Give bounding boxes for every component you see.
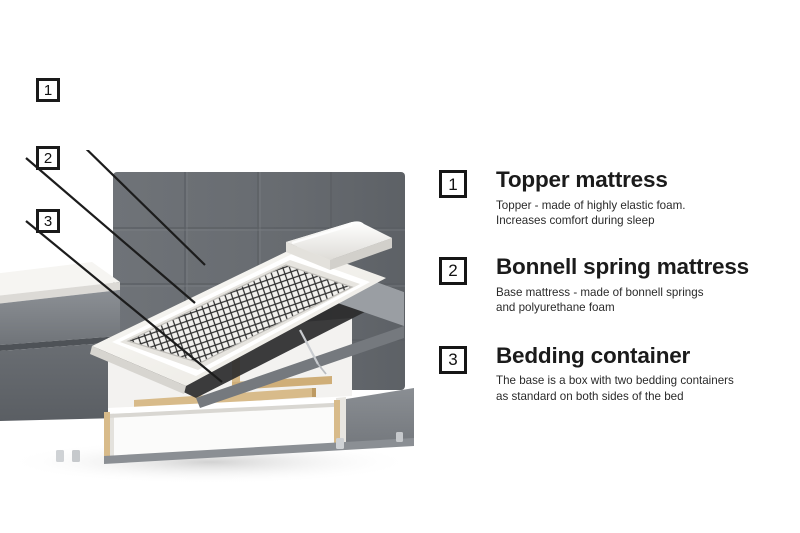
legend-number-2: 2: [439, 257, 467, 285]
legend-text-block: Topper mattress Topper - made of highly …: [496, 168, 789, 229]
legend-description-bedding-container: The base is a box with two bedding conta…: [496, 373, 789, 404]
legend-item-topper-mattress: 1 Topper mattress Topper - made of highl…: [439, 168, 789, 229]
callout-number-2: 2: [36, 146, 60, 170]
legend-number-1: 1: [439, 170, 467, 198]
callout-number-3: 3: [36, 209, 60, 233]
legend-list: 1 Topper mattress Topper - made of highl…: [439, 168, 789, 433]
infographic-canvas: 1 2 3 1 Topper mattress Topper - made of…: [0, 0, 800, 533]
legend-description-bonnell-spring-mattress: Base mattress - made of bonnell springs …: [496, 285, 789, 316]
legend-title-bonnell-spring-mattress: Bonnell spring mattress: [496, 255, 789, 279]
legend-description-topper-mattress: Topper - made of highly elastic foam. In…: [496, 198, 789, 229]
legend-item-bonnell-spring-mattress: 2 Bonnell spring mattress Base mattress …: [439, 255, 789, 316]
legend-title-bedding-container: Bedding container: [496, 344, 789, 368]
legend-text-block: Bonnell spring mattress Base mattress - …: [496, 255, 789, 316]
bed-illustration-svg: [0, 150, 430, 490]
legend-item-bedding-container: 3 Bedding container The base is a box wi…: [439, 344, 789, 405]
legend-title-topper-mattress: Topper mattress: [496, 168, 789, 192]
callout-number-1: 1: [36, 78, 60, 102]
bed-cutaway-illustration: [0, 150, 430, 490]
legend-number-3: 3: [439, 346, 467, 374]
legend-text-block: Bedding container The base is a box with…: [496, 344, 789, 405]
